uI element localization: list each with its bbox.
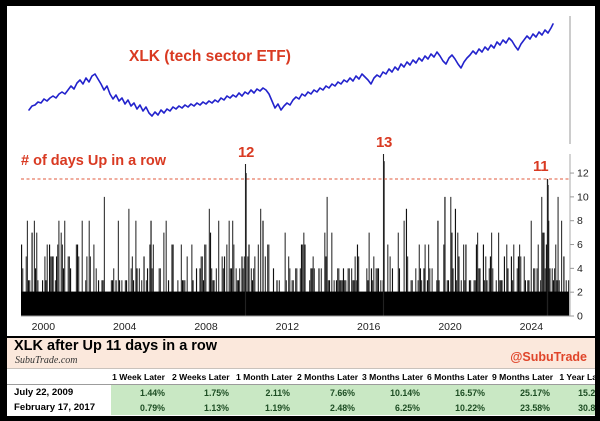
y-tick-label: 10	[577, 191, 589, 203]
table-cell-return: 23.58%	[492, 400, 557, 415]
table-row: December 8, 2025	[7, 415, 595, 416]
x-tick-label: 2012	[276, 321, 300, 333]
charts-area: XLK (tech sector ETF) 024681012 20002004…	[7, 6, 595, 336]
annotation-label-13: 13	[376, 134, 392, 151]
results-panel-title: XLK after Up 11 days in a row	[14, 338, 217, 354]
x-tick-label: 2004	[113, 321, 137, 333]
y-tick-label: 0	[577, 311, 583, 323]
table-cell-return	[557, 415, 595, 416]
table-column-header: 6 Months Later	[427, 369, 492, 385]
table-corner-cell	[7, 369, 111, 385]
table-cell-return: 0.79%	[111, 400, 172, 415]
results-panel: XLK after Up 11 days in a row SubuTrade.…	[7, 336, 595, 416]
table-cell-return: 30.81%	[557, 400, 595, 415]
bar-series	[21, 161, 569, 316]
bars-chart-title: # of days Up in a row	[21, 153, 166, 169]
table-column-header: 2 Weeks Later	[172, 369, 236, 385]
table-cell-return: 2.48%	[297, 400, 362, 415]
table-cell-return: 15.26%	[557, 385, 595, 401]
price-chart-title: XLK (tech sector ETF)	[129, 48, 291, 66]
results-panel-header: XLK after Up 11 days in a row SubuTrade.…	[7, 338, 595, 369]
table-column-header: 9 Months Later	[492, 369, 557, 385]
x-tick-label: 2016	[357, 321, 381, 333]
table-cell-return: 7.66%	[297, 385, 362, 401]
table-row-date: December 8, 2025	[7, 415, 111, 416]
table-cell-return: 1.44%	[111, 385, 172, 401]
y-tick-label: 8	[577, 215, 583, 227]
y-tick-label: 6	[577, 239, 583, 251]
table-row-date: February 17, 2017	[7, 400, 111, 415]
x-tick-label: 2020	[438, 321, 462, 333]
chart-card: XLK (tech sector ETF) 024681012 20002004…	[7, 6, 595, 416]
table-cell-return: 25.17%	[492, 385, 557, 401]
table-cell-return: 2.11%	[236, 385, 297, 401]
price-line-chart	[7, 6, 595, 146]
x-tick-label: 2008	[194, 321, 218, 333]
table-cell-return	[427, 415, 492, 416]
table-cell-return: 16.57%	[427, 385, 492, 401]
table-cell-return: 1.13%	[172, 400, 236, 415]
table-cell-return	[362, 415, 427, 416]
table-cell-return: 1.19%	[236, 400, 297, 415]
price-line	[29, 24, 553, 116]
table-row-date: July 22, 2009	[7, 385, 111, 401]
annotation-label-11: 11	[533, 158, 548, 175]
forward-returns-table: 1 Week Later2 Weeks Later1 Month Later2 …	[7, 369, 595, 416]
table-cell-return: 10.22%	[427, 400, 492, 415]
x-tick-label: 2024	[520, 321, 544, 333]
author-handle: @SubuTrade	[510, 350, 587, 364]
results-panel-subtitle: SubuTrade.com	[15, 355, 78, 366]
table-column-header: 1 Year Later	[557, 369, 595, 385]
table-column-header: 1 Month Later	[236, 369, 297, 385]
table-column-header: 2 Months Later	[297, 369, 362, 385]
streak-bar-chart: 024681012 2000200420082012201620202024	[7, 146, 595, 346]
y-tick-label: 12	[577, 168, 589, 180]
table-column-header: 3 Months Later	[362, 369, 427, 385]
table-cell-return	[172, 415, 236, 416]
table-header-row: 1 Week Later2 Weeks Later1 Month Later2 …	[7, 369, 595, 385]
table-cell-return: 1.75%	[172, 385, 236, 401]
table-cell-return	[111, 415, 172, 416]
table-cell-return	[492, 415, 557, 416]
table-body: July 22, 20091.44%1.75%2.11%7.66%10.14%1…	[7, 385, 595, 417]
table-cell-return: 6.25%	[362, 400, 427, 415]
y-tick-label: 2	[577, 287, 583, 299]
table-column-header: 1 Week Later	[111, 369, 172, 385]
x-axis-ticks: 2000200420082012201620202024	[32, 321, 544, 333]
y-tick-label: 4	[577, 263, 583, 275]
x-tick-label: 2000	[32, 321, 56, 333]
table-row: February 17, 20170.79%1.13%1.19%2.48%6.2…	[7, 400, 595, 415]
table-row: July 22, 20091.44%1.75%2.11%7.66%10.14%1…	[7, 385, 595, 401]
streak-bar-base-fill	[21, 292, 569, 316]
table-cell-return: 10.14%	[362, 385, 427, 401]
screenshot-frame: XLK (tech sector ETF) 024681012 20002004…	[0, 0, 600, 421]
y-axis-ticks: 024681012	[570, 168, 589, 323]
table-cell-return	[236, 415, 297, 416]
table-cell-return	[297, 415, 362, 416]
annotation-label-12: 12	[238, 144, 254, 161]
